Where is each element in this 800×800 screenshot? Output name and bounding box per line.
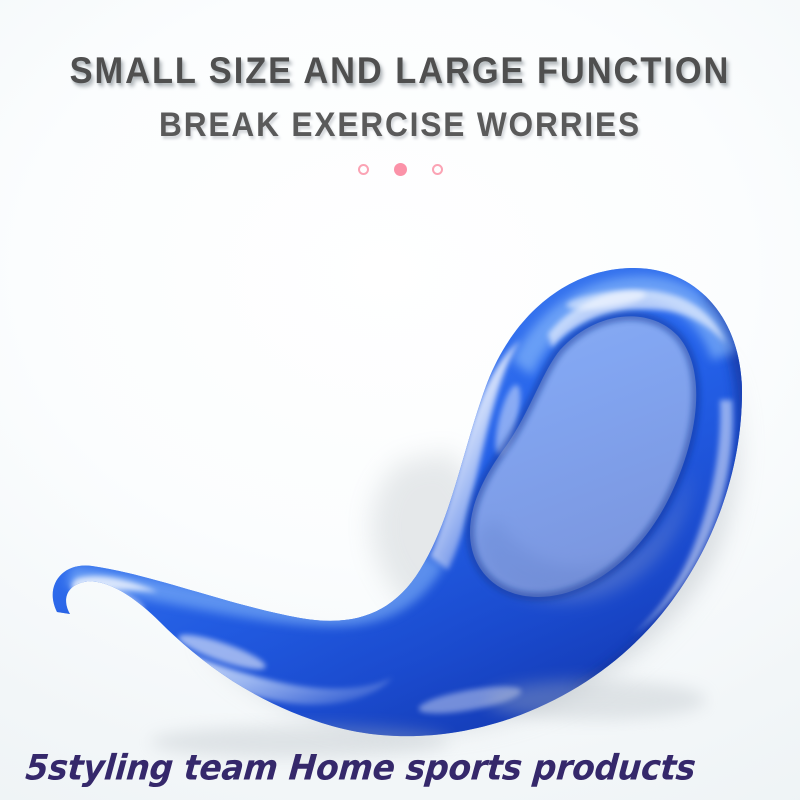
dot-hollow-right xyxy=(432,164,443,175)
headline-line-2: BREAK EXERCISE WORRIES xyxy=(28,108,772,142)
headline-block: SMALL SIZE AND LARGE FUNCTION BREAK EXER… xyxy=(0,52,800,142)
footer-brand-script: 5styling team Home sports products xyxy=(24,747,697,788)
product-poster: SMALL SIZE AND LARGE FUNCTION BREAK EXER… xyxy=(0,0,800,800)
dot-hollow-left xyxy=(358,164,369,175)
decorative-dot-row xyxy=(0,163,800,176)
dot-filled-center xyxy=(394,163,407,176)
headline-line-1: SMALL SIZE AND LARGE FUNCTION xyxy=(28,52,772,89)
